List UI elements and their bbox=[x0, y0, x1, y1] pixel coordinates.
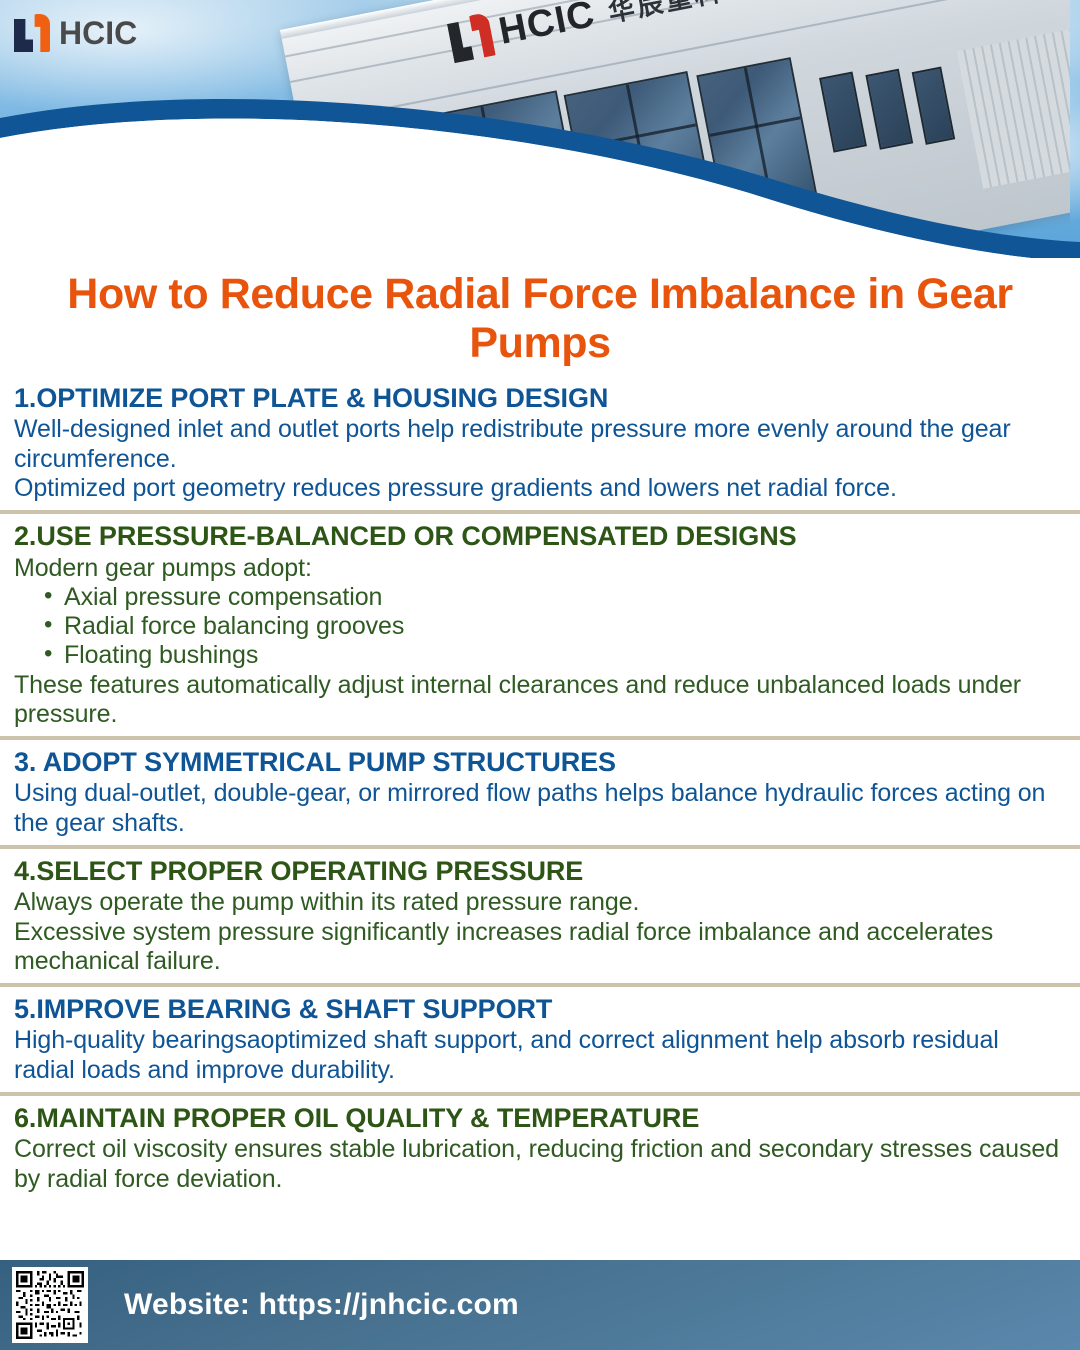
page-title: How to Reduce Radial Force Imbalance in … bbox=[0, 258, 1080, 376]
website-label[interactable]: Website: https://jnhcic.com bbox=[124, 1288, 519, 1322]
section-5-body: High-quality bearingsaoptimized shaft su… bbox=[14, 1026, 1066, 1085]
section-6-heading: 6.MAINTAIN PROPER OIL QUALITY & TEMPERAT… bbox=[14, 1102, 1066, 1134]
section-3-body: Using dual-outlet, double-gear, or mirro… bbox=[14, 779, 1066, 838]
building-sign-text: HCIC bbox=[495, 0, 598, 53]
section-2: 2.USE PRESSURE-BALANCED OR COMPENSATED D… bbox=[0, 510, 1080, 736]
building-sign-chinese: 华辰重科 bbox=[605, 0, 726, 29]
list-item: Floating bushings bbox=[42, 641, 1066, 670]
section-4-body: Always operate the pump within its rated… bbox=[14, 888, 1066, 976]
section-1-paragraph-2: Optimized port geometry reduces pressure… bbox=[14, 474, 1066, 503]
section-4-paragraph-1: Always operate the pump within its rated… bbox=[14, 888, 1066, 917]
list-item: Radial force balancing grooves bbox=[42, 612, 1066, 641]
section-2-heading: 2.USE PRESSURE-BALANCED OR COMPENSATED D… bbox=[14, 520, 1066, 552]
hero-banner: HCIC 华辰重科 HCIC bbox=[0, 0, 1080, 258]
section-5-paragraph-1: High-quality bearingsaoptimized shaft su… bbox=[14, 1026, 1066, 1085]
section-2-body: Modern gear pumps adopt: Axial pressure … bbox=[14, 554, 1066, 730]
hcic-logo-icon bbox=[14, 14, 50, 52]
section-5: 5.IMPROVE BEARING & SHAFT SUPPORT High-q… bbox=[0, 983, 1080, 1092]
footer-bar: Website: https://jnhcic.com bbox=[0, 1260, 1080, 1350]
hcic-logo-icon bbox=[446, 12, 496, 63]
section-4: 4.SELECT PROPER OPERATING PRESSURE Alway… bbox=[0, 845, 1080, 983]
section-5-heading: 5.IMPROVE BEARING & SHAFT SUPPORT bbox=[14, 993, 1066, 1025]
section-1-body: Well-designed inlet and outlet ports hel… bbox=[14, 415, 1066, 503]
tips-list: 1.OPTIMIZE PORT PLATE & HOUSING DESIGN W… bbox=[0, 376, 1080, 1201]
section-2-bullet-list: Axial pressure compensation Radial force… bbox=[42, 583, 1066, 671]
section-3: 3. ADOPT SYMMETRICAL PUMP STRUCTURES Usi… bbox=[0, 736, 1080, 845]
brand-logo-text: HCIC bbox=[59, 17, 137, 49]
section-1-heading: 1.OPTIMIZE PORT PLATE & HOUSING DESIGN bbox=[14, 382, 1066, 414]
section-3-heading: 3. ADOPT SYMMETRICAL PUMP STRUCTURES bbox=[14, 746, 1066, 778]
list-item: Axial pressure compensation bbox=[42, 583, 1066, 612]
section-1-paragraph-1: Well-designed inlet and outlet ports hel… bbox=[14, 415, 1066, 474]
building-signage: HCIC 华辰重科 bbox=[446, 0, 726, 63]
factory-building-photo: HCIC 华辰重科 bbox=[250, 0, 1070, 258]
building-facade: HCIC 华辰重科 bbox=[280, 0, 1070, 258]
section-4-paragraph-2: Excessive system pressure significantly … bbox=[14, 918, 1066, 977]
section-6: 6.MAINTAIN PROPER OIL QUALITY & TEMPERAT… bbox=[0, 1092, 1080, 1201]
section-2-paragraph-1: These features automatically adjust inte… bbox=[14, 671, 1066, 730]
section-6-body: Correct oil viscosity ensures stable lub… bbox=[14, 1135, 1066, 1194]
brand-logo[interactable]: HCIC bbox=[14, 14, 137, 52]
section-1: 1.OPTIMIZE PORT PLATE & HOUSING DESIGN W… bbox=[0, 376, 1080, 510]
section-2-lead: Modern gear pumps adopt: bbox=[14, 554, 1066, 583]
section-3-paragraph-1: Using dual-outlet, double-gear, or mirro… bbox=[14, 779, 1066, 838]
qr-code-icon[interactable] bbox=[12, 1267, 88, 1343]
section-6-paragraph-1: Correct oil viscosity ensures stable lub… bbox=[14, 1135, 1066, 1194]
section-4-heading: 4.SELECT PROPER OPERATING PRESSURE bbox=[14, 855, 1066, 887]
